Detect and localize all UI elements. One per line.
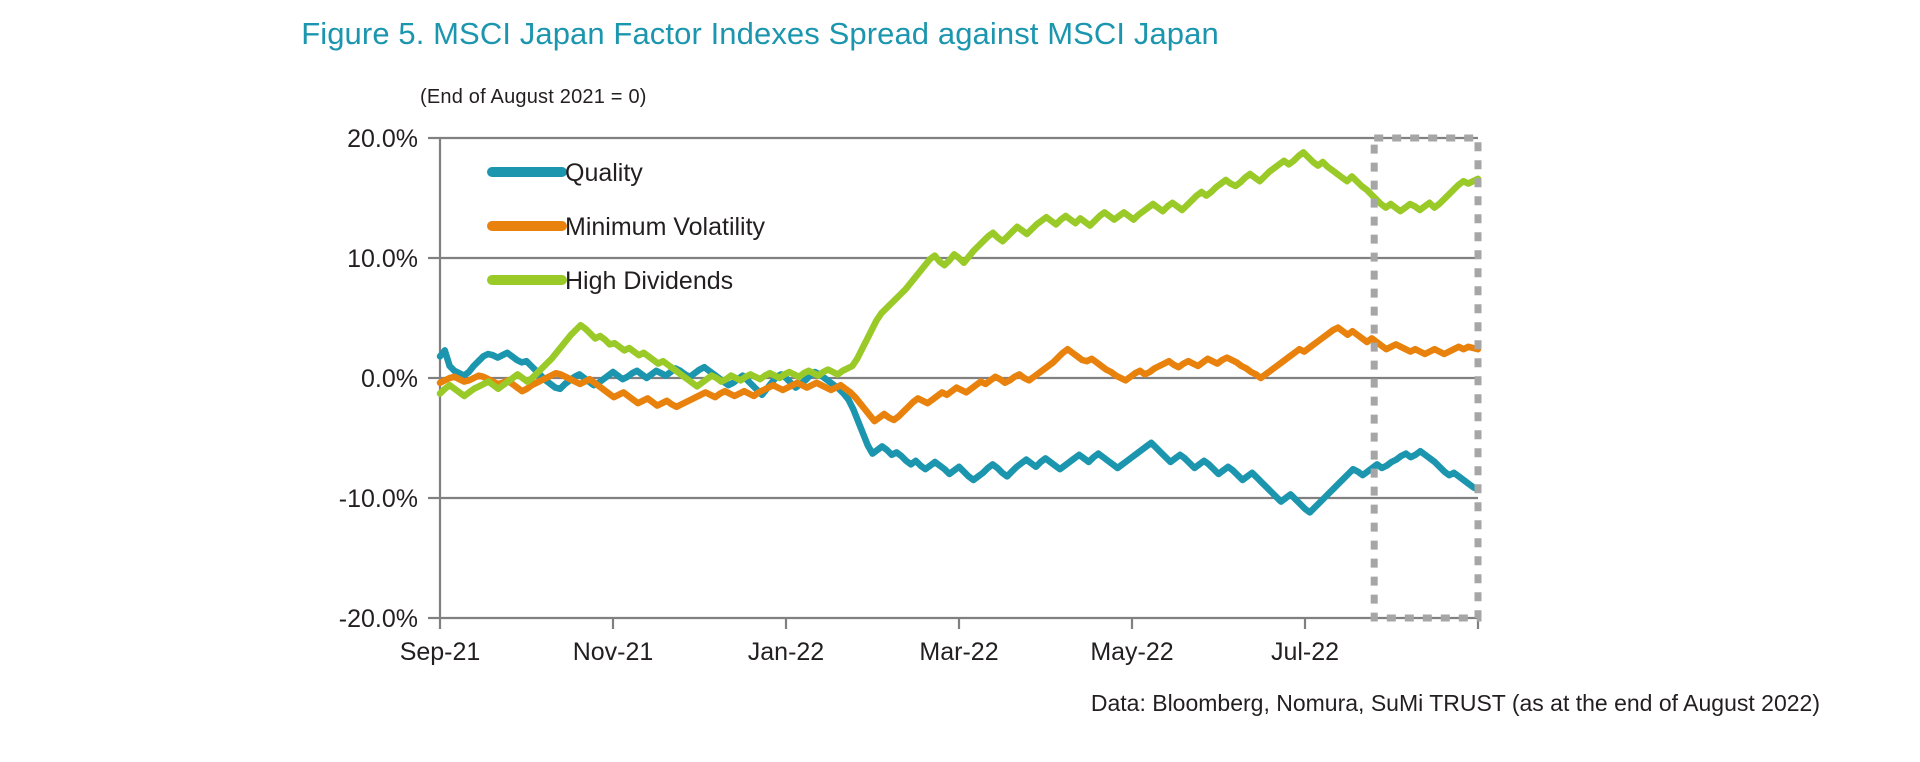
x-tick-label: Mar-22	[919, 638, 998, 666]
legend-label-quality: Quality	[565, 159, 643, 187]
x-tick-label: Sep-21	[400, 638, 481, 666]
x-tick-label: Jan-22	[748, 638, 824, 666]
series-group	[440, 152, 1478, 512]
y-tick-label: -20.0%	[339, 605, 418, 633]
y-tick-label: 20.0%	[347, 125, 418, 153]
x-tick-label: Jul-22	[1271, 638, 1339, 666]
legend-label-high-dividends: High Dividends	[565, 267, 733, 295]
x-tick-label: May-22	[1090, 638, 1173, 666]
chart-container: 20.0%10.0%0.0%-10.0%-20.0% Sep-21Nov-21J…	[0, 0, 1920, 700]
x-axis-ticks-group: Sep-21Nov-21Jan-22Mar-22May-22Jul-22	[400, 618, 1478, 666]
gridlines-group	[440, 138, 1478, 618]
legend-label-minimum-volatility: Minimum Volatility	[565, 213, 766, 241]
source-note: Data: Bloomberg, Nomura, SuMi TRUST (as …	[1091, 690, 1820, 717]
y-tick-label: -10.0%	[339, 485, 418, 513]
x-tick-label: Nov-21	[573, 638, 654, 666]
chart-legend: QualityMinimum VolatilityHigh Dividends	[492, 159, 766, 295]
y-tick-label: 0.0%	[361, 365, 418, 393]
series-line-quality	[440, 350, 1478, 512]
line-chart: 20.0%10.0%0.0%-10.0%-20.0% Sep-21Nov-21J…	[0, 0, 1920, 700]
series-line-minimum-volatility	[440, 328, 1478, 422]
y-axis-ticks-group: 20.0%10.0%0.0%-10.0%-20.0%	[339, 125, 440, 633]
y-tick-label: 10.0%	[347, 245, 418, 273]
